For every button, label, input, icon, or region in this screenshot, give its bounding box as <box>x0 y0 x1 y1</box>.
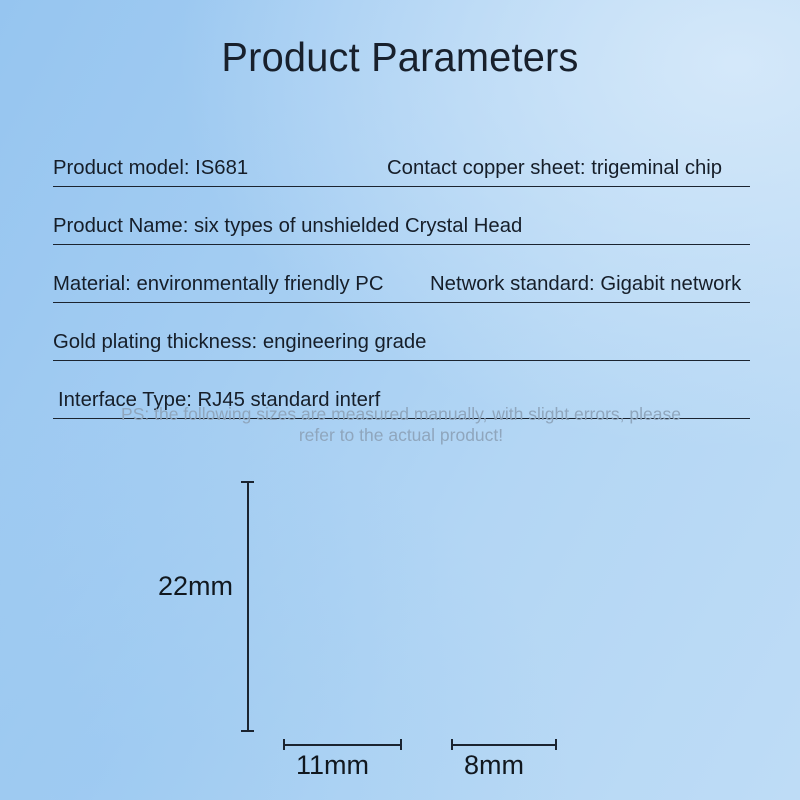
parameter-row: Gold plating thickness: engineering grad… <box>53 303 750 361</box>
dimension-tick-left <box>283 739 285 750</box>
disclaimer-line-2: refer to the actual product! <box>55 425 747 446</box>
parameter-product-model: Product model: IS681 <box>53 156 248 180</box>
parameter-product-name: Product Name: six types of unshielded Cr… <box>53 214 522 238</box>
dimension-tick-top <box>241 481 254 483</box>
parameter-network-standard: Network standard: Gigabit network <box>430 272 741 296</box>
parameter-contact-copper-sheet: Contact copper sheet: trigeminal chip <box>387 156 722 180</box>
dimension-label-front-width: 11mm <box>296 749 369 781</box>
dimension-label-side-width: 8mm <box>464 749 524 781</box>
parameters-table: Product model: IS681 Contact copper shee… <box>53 129 750 419</box>
dimension-tick-left <box>451 739 453 750</box>
product-dimension-figure: 22mm 11mm 8mm <box>0 455 800 800</box>
page-title: Product Parameters <box>12 33 788 81</box>
dimension-tick-right <box>400 739 402 750</box>
parameter-material: Material: environmentally friendly PC <box>53 272 383 296</box>
dimension-tick-bottom <box>241 730 254 732</box>
parameter-row: Product Name: six types of unshielded Cr… <box>53 187 750 245</box>
dimension-line-height <box>247 481 249 731</box>
dimension-label-height: 22mm <box>158 570 233 602</box>
measurement-disclaimer: PS: the following sizes are measured man… <box>55 404 747 446</box>
dimension-line-front-width <box>283 744 401 746</box>
dimension-line-side-width <box>451 744 556 746</box>
parameter-row: Product model: IS681 Contact copper shee… <box>53 129 750 187</box>
disclaimer-line-1: PS: the following sizes are measured man… <box>55 404 747 425</box>
product-parameters-page: Product Parameters Product model: IS681 … <box>0 0 800 800</box>
dimension-tick-right <box>555 739 557 750</box>
parameter-gold-plating-thickness: Gold plating thickness: engineering grad… <box>53 330 426 354</box>
parameter-row: Material: environmentally friendly PC Ne… <box>53 245 750 303</box>
